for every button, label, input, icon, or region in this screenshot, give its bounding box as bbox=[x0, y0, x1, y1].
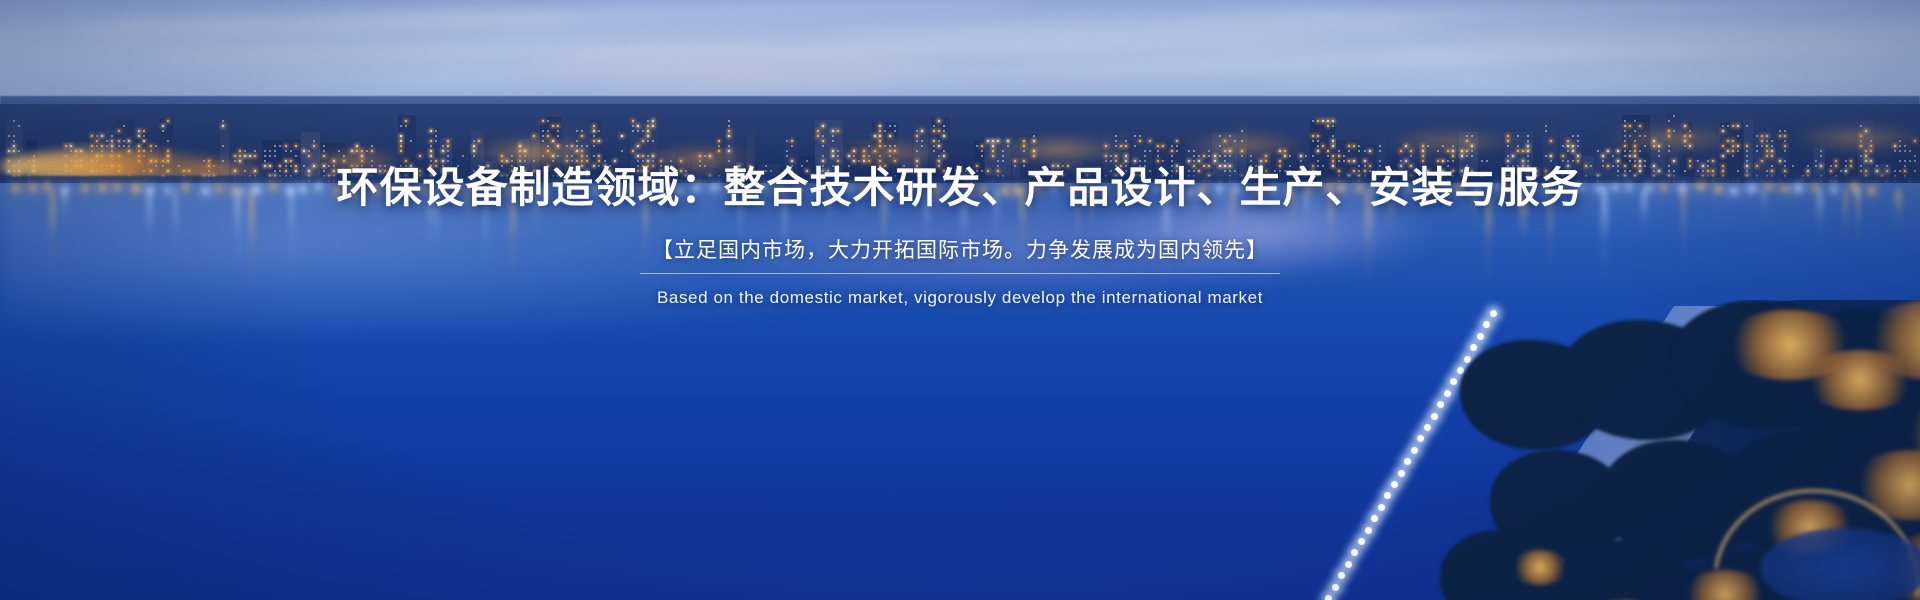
window-light bbox=[1815, 165, 1817, 167]
window-light bbox=[150, 170, 152, 172]
window-light bbox=[1171, 160, 1173, 162]
window-light bbox=[997, 140, 999, 142]
window-light bbox=[642, 160, 644, 162]
window-light bbox=[1171, 155, 1173, 157]
window-light bbox=[1807, 170, 1809, 172]
window-light bbox=[1522, 150, 1524, 152]
window-light bbox=[1870, 140, 1872, 142]
window-light bbox=[1427, 170, 1429, 172]
window-light bbox=[91, 150, 93, 152]
window-light bbox=[290, 150, 292, 152]
window-light bbox=[96, 140, 98, 142]
vertical-light-smear bbox=[968, 188, 973, 215]
shore-light-reflection bbox=[1188, 188, 1193, 195]
window-light bbox=[660, 160, 662, 162]
window-light bbox=[1746, 155, 1748, 157]
window-light bbox=[728, 120, 730, 122]
window-light bbox=[13, 140, 15, 142]
vertical-light-smear bbox=[173, 188, 178, 275]
window-light bbox=[1176, 150, 1178, 152]
window-light bbox=[1746, 145, 1748, 147]
window-light bbox=[652, 155, 654, 157]
window-light bbox=[1379, 165, 1381, 167]
window-light bbox=[501, 155, 503, 157]
window-light bbox=[916, 140, 918, 142]
window-light bbox=[557, 130, 559, 132]
window-light bbox=[1860, 140, 1862, 142]
window-light bbox=[1830, 170, 1832, 172]
window-light bbox=[1634, 130, 1636, 132]
window-light bbox=[1255, 165, 1257, 167]
window-light bbox=[1120, 145, 1122, 147]
window-light bbox=[1452, 160, 1454, 162]
window-light bbox=[1653, 170, 1655, 172]
window-light bbox=[183, 170, 185, 172]
window-light bbox=[981, 170, 983, 172]
window-light bbox=[118, 165, 120, 167]
window-light bbox=[933, 130, 935, 132]
window-light bbox=[1332, 155, 1334, 157]
window-light bbox=[884, 145, 886, 147]
window-light bbox=[70, 170, 72, 172]
window-light bbox=[1784, 140, 1786, 142]
window-light bbox=[101, 145, 103, 147]
window-light bbox=[1567, 160, 1569, 162]
window-light bbox=[848, 155, 850, 157]
window-light bbox=[333, 170, 335, 172]
window-light bbox=[1527, 170, 1529, 172]
window-light bbox=[1338, 150, 1340, 152]
window-light bbox=[1062, 170, 1064, 172]
window-light bbox=[1668, 135, 1670, 137]
window-light bbox=[1572, 145, 1574, 147]
window-light bbox=[552, 160, 554, 162]
window-light bbox=[1761, 160, 1763, 162]
shore-light-reflection bbox=[793, 186, 801, 190]
window-light bbox=[1784, 160, 1786, 162]
window-light bbox=[111, 165, 113, 167]
window-light bbox=[33, 155, 35, 157]
window-light bbox=[1820, 165, 1822, 167]
window-light bbox=[1909, 160, 1911, 162]
shore-light-reflection bbox=[1051, 185, 1055, 190]
shore-light-reflection bbox=[490, 188, 498, 193]
window-light bbox=[894, 150, 896, 152]
window-light bbox=[970, 170, 972, 172]
vertical-light-smear bbox=[782, 188, 786, 290]
window-light bbox=[699, 165, 701, 167]
window-light bbox=[542, 120, 544, 122]
window-light bbox=[848, 165, 850, 167]
window-light bbox=[143, 155, 145, 157]
window-light bbox=[1369, 165, 1371, 167]
vertical-light-smear bbox=[738, 188, 743, 264]
window-light bbox=[1317, 160, 1319, 162]
window-light bbox=[1461, 155, 1463, 157]
shore-light-reflection bbox=[1627, 184, 1631, 190]
shore-light-reflection bbox=[99, 185, 107, 191]
window-light bbox=[1067, 165, 1069, 167]
window-light bbox=[547, 170, 549, 172]
window-light bbox=[13, 120, 15, 122]
window-light bbox=[1193, 150, 1195, 152]
window-light bbox=[1332, 145, 1334, 147]
window-light bbox=[167, 140, 169, 142]
window-light bbox=[1689, 160, 1691, 162]
window-light bbox=[1279, 170, 1281, 172]
window-light bbox=[1722, 145, 1724, 147]
window-light bbox=[1639, 165, 1641, 167]
window-light bbox=[1507, 165, 1509, 167]
street-light bbox=[1351, 549, 1358, 556]
window-light bbox=[1422, 160, 1424, 162]
window-light bbox=[1062, 165, 1064, 167]
window-light bbox=[598, 155, 600, 157]
window-light bbox=[1241, 155, 1243, 157]
window-light bbox=[430, 145, 432, 147]
window-light bbox=[884, 170, 886, 172]
window-light bbox=[208, 170, 210, 172]
window-light bbox=[1353, 145, 1355, 147]
street-light bbox=[1325, 595, 1332, 600]
window-light bbox=[524, 170, 526, 172]
window-light bbox=[1697, 160, 1699, 162]
window-light bbox=[647, 165, 649, 167]
window-light bbox=[1737, 170, 1739, 172]
vertical-light-smear bbox=[1328, 188, 1334, 264]
window-light bbox=[791, 170, 793, 172]
window-light bbox=[1545, 130, 1547, 132]
street-light bbox=[1411, 447, 1418, 454]
window-light bbox=[1746, 170, 1748, 172]
street-light bbox=[1437, 401, 1444, 408]
window-light bbox=[817, 170, 819, 172]
window-light bbox=[853, 150, 855, 152]
window-light bbox=[933, 150, 935, 152]
window-light bbox=[274, 150, 276, 152]
window-light bbox=[853, 160, 855, 162]
street-light bbox=[1424, 424, 1431, 431]
window-light bbox=[894, 125, 896, 127]
street-light bbox=[1431, 413, 1438, 420]
window-light bbox=[511, 155, 513, 157]
window-light bbox=[1033, 135, 1035, 137]
window-light bbox=[791, 165, 793, 167]
window-light bbox=[853, 155, 855, 157]
window-light bbox=[1820, 150, 1822, 152]
window-light bbox=[933, 140, 935, 142]
window-light bbox=[576, 130, 578, 132]
window-light bbox=[1405, 160, 1407, 162]
window-light bbox=[123, 125, 125, 127]
window-light bbox=[91, 135, 93, 137]
window-light bbox=[576, 150, 578, 152]
window-light bbox=[1096, 170, 1098, 172]
window-light bbox=[699, 155, 701, 157]
street-light bbox=[1450, 378, 1457, 385]
window-light bbox=[1394, 170, 1396, 172]
window-light bbox=[1914, 140, 1916, 142]
window-light bbox=[581, 145, 583, 147]
window-light bbox=[1634, 165, 1636, 167]
window-light bbox=[832, 150, 834, 152]
window-light bbox=[728, 135, 730, 137]
street-light bbox=[1384, 492, 1391, 499]
window-light bbox=[1673, 115, 1675, 117]
window-light bbox=[1224, 170, 1226, 172]
window-light bbox=[487, 170, 489, 172]
window-light bbox=[1157, 160, 1159, 162]
window-light bbox=[642, 165, 644, 167]
window-light bbox=[1845, 165, 1847, 167]
window-light bbox=[410, 140, 412, 142]
window-light bbox=[295, 155, 297, 157]
window-light bbox=[1452, 170, 1454, 172]
window-light bbox=[1904, 145, 1906, 147]
window-light bbox=[1305, 155, 1307, 157]
vertical-light-smear bbox=[248, 188, 255, 296]
window-light bbox=[1110, 170, 1112, 172]
window-light bbox=[1332, 140, 1334, 142]
window-light bbox=[976, 170, 978, 172]
window-light bbox=[1234, 170, 1236, 172]
window-light bbox=[1466, 140, 1468, 142]
window-light bbox=[303, 150, 305, 152]
window-light bbox=[933, 145, 935, 147]
window-light bbox=[430, 140, 432, 142]
shore-light-reflection bbox=[1120, 187, 1129, 194]
window-light bbox=[1208, 150, 1210, 152]
window-light bbox=[18, 150, 20, 152]
window-light bbox=[765, 165, 767, 167]
shore-light-reflection bbox=[1832, 185, 1836, 192]
window-light bbox=[637, 130, 639, 132]
window-light bbox=[647, 135, 649, 137]
window-light bbox=[430, 130, 432, 132]
window-light bbox=[1771, 145, 1773, 147]
window-light bbox=[222, 145, 224, 147]
window-light bbox=[1203, 165, 1205, 167]
window-light bbox=[442, 150, 444, 152]
window-light bbox=[1722, 130, 1724, 132]
window-light bbox=[868, 145, 870, 147]
window-light bbox=[290, 160, 292, 162]
window-light bbox=[8, 170, 10, 172]
window-light bbox=[333, 165, 335, 167]
window-light bbox=[1091, 170, 1093, 172]
window-light bbox=[1250, 165, 1252, 167]
window-light bbox=[128, 150, 130, 152]
window-light bbox=[1348, 160, 1350, 162]
window-light bbox=[642, 130, 644, 132]
window-light bbox=[384, 165, 386, 167]
window-light bbox=[1517, 165, 1519, 167]
window-light bbox=[118, 170, 120, 172]
window-light bbox=[647, 130, 649, 132]
window-light bbox=[1850, 165, 1852, 167]
window-light bbox=[1766, 170, 1768, 172]
window-light bbox=[1447, 160, 1449, 162]
window-light bbox=[837, 170, 839, 172]
window-light bbox=[1317, 135, 1319, 137]
window-light bbox=[1260, 160, 1262, 162]
window-light bbox=[1860, 145, 1862, 147]
window-light bbox=[817, 130, 819, 132]
window-light bbox=[1886, 165, 1888, 167]
window-light bbox=[371, 165, 373, 167]
street-light bbox=[1365, 527, 1372, 534]
window-light bbox=[542, 140, 544, 142]
window-light bbox=[1461, 150, 1463, 152]
window-light bbox=[806, 170, 808, 172]
window-light bbox=[837, 155, 839, 157]
window-light bbox=[581, 165, 583, 167]
shore-light-reflection bbox=[1456, 185, 1463, 192]
window-light bbox=[738, 170, 740, 172]
window-light bbox=[1567, 150, 1569, 152]
window-light bbox=[1149, 170, 1151, 172]
window-light bbox=[361, 165, 363, 167]
window-light bbox=[1634, 155, 1636, 157]
window-light bbox=[1722, 125, 1724, 127]
window-light bbox=[1105, 145, 1107, 147]
window-light bbox=[1033, 140, 1035, 142]
window-light bbox=[1452, 145, 1454, 147]
window-light bbox=[718, 145, 720, 147]
window-light bbox=[1120, 165, 1122, 167]
window-light bbox=[533, 135, 535, 137]
hero-banner: 环保设备制造领域：整合技术研发、产品设计、生产、安装与服务 【立足国内市场，大力… bbox=[0, 0, 1920, 600]
window-light bbox=[1466, 165, 1468, 167]
window-light bbox=[264, 150, 266, 152]
window-light bbox=[1668, 145, 1670, 147]
building bbox=[630, 117, 657, 184]
window-light bbox=[96, 135, 98, 137]
window-light bbox=[1149, 140, 1151, 142]
window-light bbox=[435, 140, 437, 142]
building bbox=[1666, 113, 1679, 184]
window-light bbox=[908, 170, 910, 172]
shore-light-reflection bbox=[422, 187, 427, 191]
window-light bbox=[1078, 170, 1080, 172]
building bbox=[540, 117, 561, 184]
window-light bbox=[1203, 155, 1205, 157]
window-light bbox=[1162, 145, 1164, 147]
window-light bbox=[593, 155, 595, 157]
window-light bbox=[419, 170, 421, 172]
shore-light-reflection bbox=[559, 184, 565, 188]
window-light bbox=[992, 150, 994, 152]
window-light bbox=[1624, 155, 1626, 157]
window-light bbox=[254, 155, 256, 157]
window-light bbox=[1193, 165, 1195, 167]
window-light bbox=[442, 145, 444, 147]
window-light bbox=[699, 160, 701, 162]
window-light bbox=[1835, 160, 1837, 162]
window-light bbox=[379, 165, 381, 167]
window-light bbox=[1689, 145, 1691, 147]
window-light bbox=[642, 170, 644, 172]
shore-light-reflection bbox=[1730, 188, 1738, 194]
window-light bbox=[921, 145, 923, 147]
window-light bbox=[222, 120, 224, 122]
window-light bbox=[542, 130, 544, 132]
window-light bbox=[1779, 130, 1781, 132]
window-light bbox=[1317, 150, 1319, 152]
window-light bbox=[1629, 135, 1631, 137]
window-light bbox=[1629, 125, 1631, 127]
window-light bbox=[1629, 150, 1631, 152]
window-light bbox=[1634, 140, 1636, 142]
window-light bbox=[858, 160, 860, 162]
window-light bbox=[410, 165, 412, 167]
window-light bbox=[889, 125, 891, 127]
shore-light-reflection bbox=[574, 185, 579, 190]
window-light bbox=[1894, 150, 1896, 152]
shore-light-reflection bbox=[592, 187, 598, 193]
window-light bbox=[552, 125, 554, 127]
window-light bbox=[997, 160, 999, 162]
window-light bbox=[1624, 165, 1626, 167]
window-light bbox=[1300, 170, 1302, 172]
window-light bbox=[786, 140, 788, 142]
shore-light-reflection bbox=[1256, 187, 1263, 194]
window-light bbox=[1229, 165, 1231, 167]
window-light bbox=[13, 165, 15, 167]
window-light bbox=[111, 135, 113, 137]
window-light bbox=[1784, 130, 1786, 132]
window-light bbox=[33, 170, 35, 172]
window-light bbox=[1144, 150, 1146, 152]
window-light bbox=[1792, 165, 1794, 167]
window-light bbox=[167, 160, 169, 162]
street-light bbox=[1404, 458, 1411, 465]
window-light bbox=[1860, 165, 1862, 167]
window-light bbox=[167, 155, 169, 157]
window-light bbox=[1125, 155, 1127, 157]
window-light bbox=[143, 130, 145, 132]
window-light bbox=[323, 150, 325, 152]
window-light bbox=[1229, 155, 1231, 157]
window-light bbox=[75, 165, 77, 167]
window-light bbox=[8, 135, 10, 137]
window-light bbox=[1607, 150, 1609, 152]
vertical-light-smear bbox=[923, 188, 931, 258]
window-light bbox=[1612, 165, 1614, 167]
park-amber-light bbox=[1510, 550, 1570, 585]
window-light bbox=[128, 145, 130, 147]
shore-light-reflection bbox=[114, 185, 119, 190]
window-light bbox=[786, 165, 788, 167]
window-light bbox=[1014, 165, 1016, 167]
window-light bbox=[1727, 150, 1729, 152]
window-light bbox=[244, 170, 246, 172]
window-light bbox=[1634, 120, 1636, 122]
window-light bbox=[1830, 165, 1832, 167]
window-light bbox=[1023, 150, 1025, 152]
window-light bbox=[361, 160, 363, 162]
window-light bbox=[581, 160, 583, 162]
window-light bbox=[473, 145, 475, 147]
window-light bbox=[1507, 160, 1509, 162]
window-light bbox=[1105, 155, 1107, 157]
window-light bbox=[1033, 155, 1035, 157]
window-light bbox=[1410, 165, 1412, 167]
window-light bbox=[1527, 160, 1529, 162]
window-light bbox=[1870, 150, 1872, 152]
window-light bbox=[632, 120, 634, 122]
street-light bbox=[1398, 470, 1405, 477]
